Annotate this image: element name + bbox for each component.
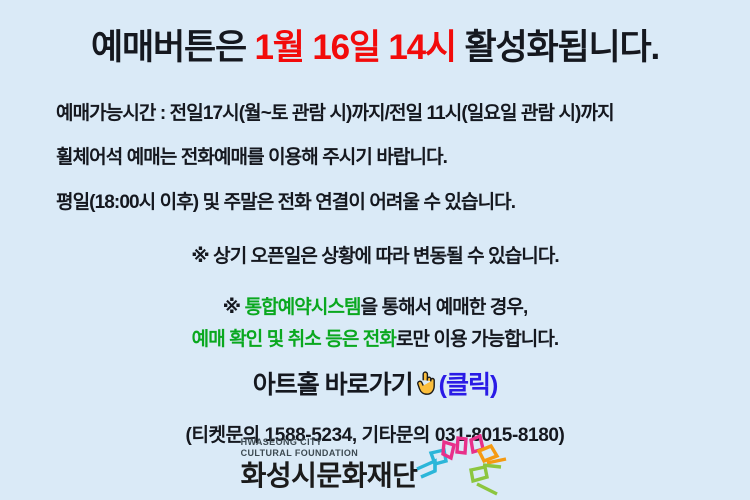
pointing-up-hand-icon [414,370,438,405]
note-mark: ※ [223,297,245,318]
body-line-wheelchair: 휠체어석 예매는 전화예매를 이용해 주시기 바랍니다. [56,143,720,172]
note-phone-rest: 로만 이용 가능합니다. [396,329,558,350]
art-hall-link-label[interactable]: 아트홀 바로가기 [253,371,413,399]
note-phone-only: 예매 확인 및 취소 등은 전화로만 이용 가능합니다. [0,326,750,355]
note-open-date-may-change: ※ 상기 오픈일은 상황에 따라 변동될 수 있습니다. [0,243,750,272]
note-integrated-system: ※ 통합예약시스템을 통해서 예매한 경우, [0,294,750,323]
body-line-weekday-hours: 평일(18:00시 이후) 및 주말은 전화 연결이 어려울 수 있습니다. [56,188,720,217]
art-hall-link-line[interactable]: 아트홀 바로가기(클릭) [0,369,750,405]
notes-block: ※ 상기 오픈일은 상황에 따라 변동될 수 있습니다. ※ 통합예약시스템을 … [0,217,750,355]
body-line-booking-hours: 예매가능시간 : 전일17시(월~토 관람 시)까지/전일 11시(일요일 관람… [56,99,720,128]
logo-korean-name: 화성시문화재단 [241,462,418,490]
note-system-rest: 을 통해서 예매한 경우, [361,297,528,318]
logo-english-line-2: Cultural Foundation [241,448,418,459]
foundation-logo: Hwaseong City Cultural Foundation 화성시문화재… [0,434,750,492]
headline-part-1: 예매버튼은 [91,28,255,67]
headline: 예매버튼은 1월 16일 14시 활성화됩니다. [91,26,659,70]
headline-part-2: 활성화됩니다. [456,28,659,67]
click-hint-label[interactable]: (클릭) [439,371,498,399]
logo-english-line-1: Hwaseong City [241,437,418,448]
note-system-name: 통합예약시스템 [245,297,361,318]
body-block: 예매가능시간 : 전일17시(월~토 관람 시)까지/전일 11시(일요일 관람… [0,84,750,217]
headline-date-accent: 1월 16일 14시 [255,28,456,67]
note-phone-green: 예매 확인 및 취소 등은 전화 [192,329,396,350]
notice-poster: 예매버튼은 1월 16일 14시 활성화됩니다. 예매가능시간 : 전일17시(… [0,0,750,500]
hwaseong-foundation-fan-logo-icon [413,434,509,496]
